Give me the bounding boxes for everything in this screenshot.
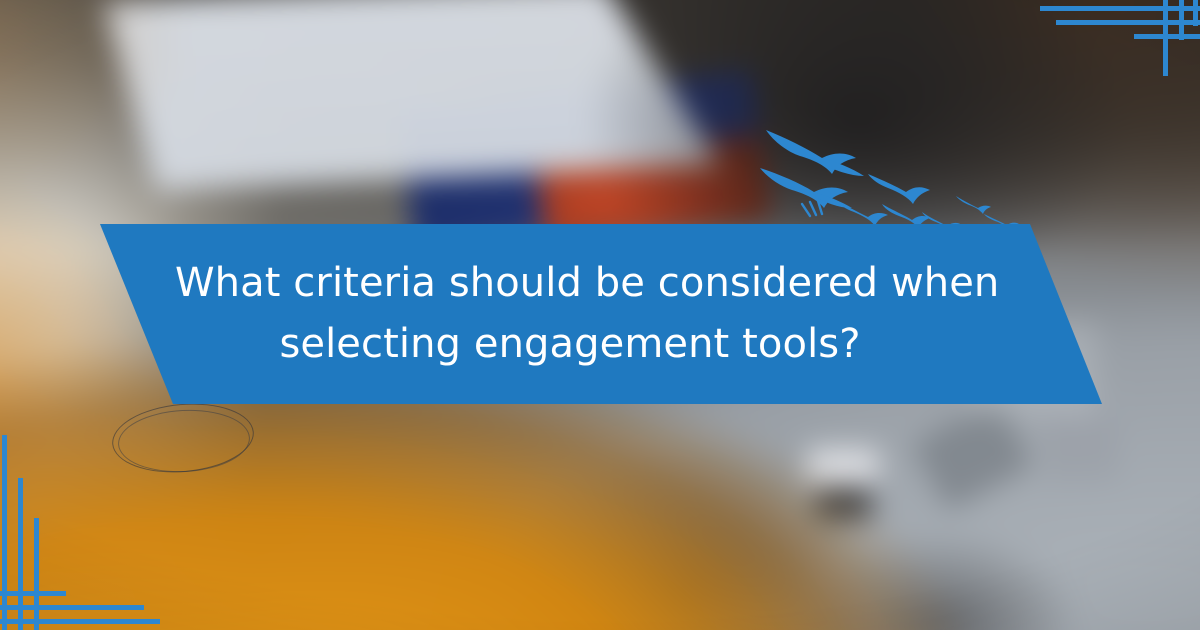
headline-banner: What criteria should be considered when … <box>0 224 1200 404</box>
social-card: What criteria should be considered when … <box>0 0 1200 630</box>
headline-line-2: selecting engagement tools? <box>175 314 965 375</box>
headline-line-1: What criteria should be considered when <box>175 253 965 314</box>
bird-flock-graphic <box>760 108 1030 233</box>
page-title: What criteria should be considered when … <box>175 253 965 375</box>
headline-banner-content: What criteria should be considered when … <box>175 224 965 404</box>
